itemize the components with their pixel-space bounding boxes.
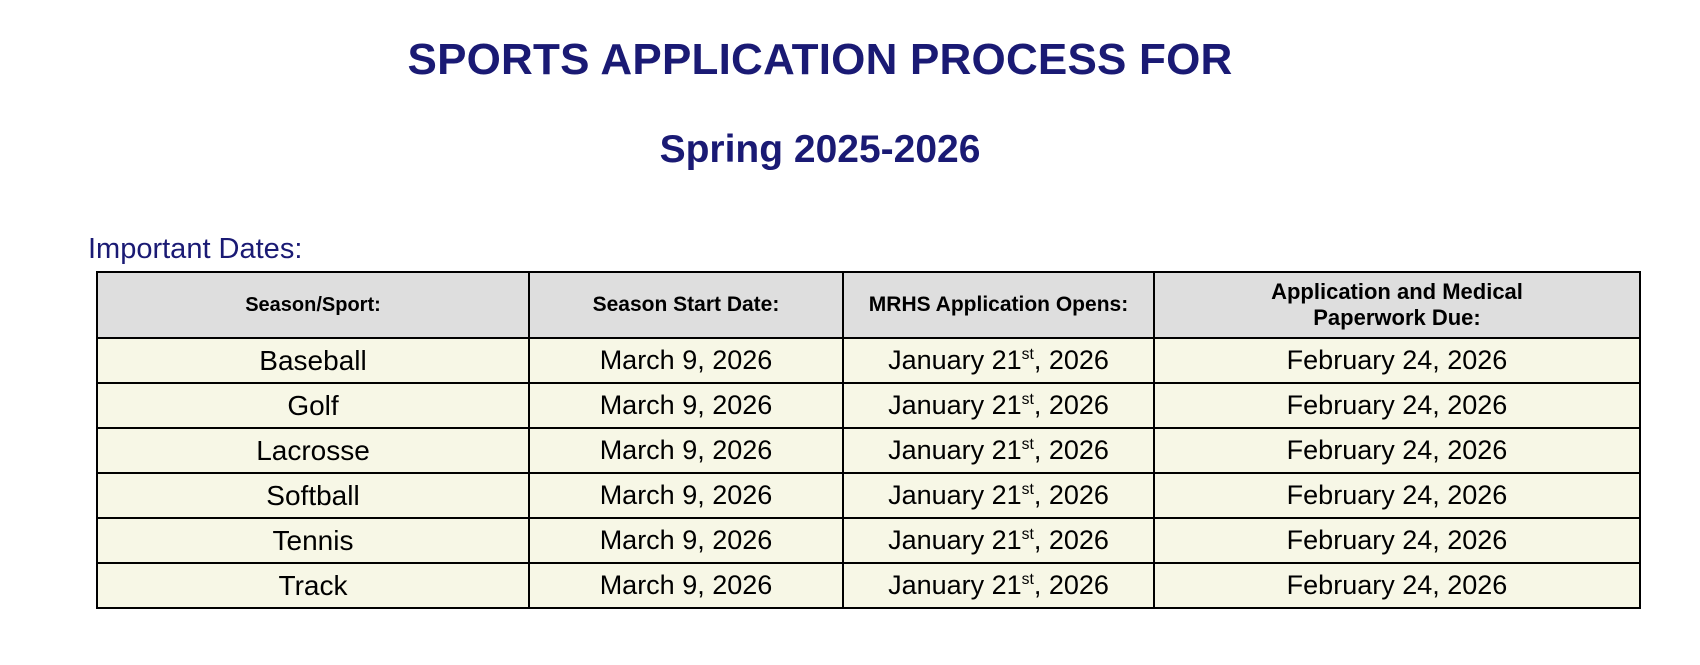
column-header-season-start-date: Season Start Date: (529, 272, 843, 338)
ordinal-suffix: st (1022, 481, 1034, 498)
ordinal-suffix: st (1022, 526, 1034, 543)
opens-date-text: January 21 (888, 525, 1022, 555)
table-row: Golf March 9, 2026 January 21st, 2026 Fe… (97, 383, 1640, 428)
opens-date-text: January 21 (888, 480, 1022, 510)
table-row: Baseball March 9, 2026 January 21st, 202… (97, 338, 1640, 383)
column-header-season-sport: Season/Sport: (97, 272, 529, 338)
table-header: Season/Sport: Season Start Date: MRHS Ap… (97, 272, 1640, 338)
cell-start-date: March 9, 2026 (529, 563, 843, 608)
table-row: Tennis March 9, 2026 January 21st, 2026 … (97, 518, 1640, 563)
column-header-paperwork-due: Application and Medical Paperwork Due: (1154, 272, 1640, 338)
ordinal-suffix: st (1022, 346, 1034, 363)
opens-date-text: January 21 (888, 435, 1022, 465)
ordinal-suffix: st (1022, 391, 1034, 408)
page-title-line-2: Spring 2025-2026 (0, 127, 1640, 173)
opens-year-text: , 2026 (1034, 390, 1109, 420)
cell-application-opens: January 21st, 2026 (843, 383, 1154, 428)
cell-application-opens: January 21st, 2026 (843, 473, 1154, 518)
opens-date-text: January 21 (888, 570, 1022, 600)
important-dates-table: Season/Sport: Season Start Date: MRHS Ap… (96, 271, 1641, 609)
ordinal-suffix: st (1022, 436, 1034, 453)
cell-application-opens: January 21st, 2026 (843, 518, 1154, 563)
cell-paperwork-due: February 24, 2026 (1154, 473, 1640, 518)
opens-date-text: January 21 (888, 390, 1022, 420)
opens-year-text: , 2026 (1034, 570, 1109, 600)
opens-year-text: , 2026 (1034, 345, 1109, 375)
ordinal-suffix: st (1022, 571, 1034, 588)
table-row: Lacrosse March 9, 2026 January 21st, 202… (97, 428, 1640, 473)
cell-sport: Tennis (97, 518, 529, 563)
opens-year-text: , 2026 (1034, 525, 1109, 555)
table-header-row: Season/Sport: Season Start Date: MRHS Ap… (97, 272, 1640, 338)
column-header-application-opens: MRHS Application Opens: (843, 272, 1154, 338)
opens-date-text: January 21 (888, 345, 1022, 375)
table-row: Softball March 9, 2026 January 21st, 202… (97, 473, 1640, 518)
cell-application-opens: January 21st, 2026 (843, 338, 1154, 383)
cell-start-date: March 9, 2026 (529, 518, 843, 563)
column-header-paperwork-due-line-1: Application and Medical (1271, 279, 1523, 304)
section-heading-important-dates: Important Dates: (88, 232, 302, 266)
document-page: SPORTS APPLICATION PROCESS FOR Spring 20… (0, 0, 1700, 665)
column-header-paperwork-due-line-2: Paperwork Due: (1313, 305, 1481, 330)
cell-paperwork-due: February 24, 2026 (1154, 338, 1640, 383)
cell-sport: Track (97, 563, 529, 608)
document-title-block: SPORTS APPLICATION PROCESS FOR Spring 20… (0, 34, 1640, 173)
cell-paperwork-due: February 24, 2026 (1154, 518, 1640, 563)
cell-start-date: March 9, 2026 (529, 428, 843, 473)
cell-start-date: March 9, 2026 (529, 383, 843, 428)
cell-sport: Softball (97, 473, 529, 518)
cell-paperwork-due: February 24, 2026 (1154, 428, 1640, 473)
cell-sport: Lacrosse (97, 428, 529, 473)
page-title-line-1: SPORTS APPLICATION PROCESS FOR (0, 34, 1640, 86)
cell-sport: Baseball (97, 338, 529, 383)
opens-year-text: , 2026 (1034, 480, 1109, 510)
cell-application-opens: January 21st, 2026 (843, 563, 1154, 608)
cell-paperwork-due: February 24, 2026 (1154, 383, 1640, 428)
cell-sport: Golf (97, 383, 529, 428)
cell-start-date: March 9, 2026 (529, 473, 843, 518)
cell-application-opens: January 21st, 2026 (843, 428, 1154, 473)
table-row: Track March 9, 2026 January 21st, 2026 F… (97, 563, 1640, 608)
cell-start-date: March 9, 2026 (529, 338, 843, 383)
table-body: Baseball March 9, 2026 January 21st, 202… (97, 338, 1640, 608)
opens-year-text: , 2026 (1034, 435, 1109, 465)
important-dates-table-container: Season/Sport: Season Start Date: MRHS Ap… (96, 271, 1641, 609)
cell-paperwork-due: February 24, 2026 (1154, 563, 1640, 608)
